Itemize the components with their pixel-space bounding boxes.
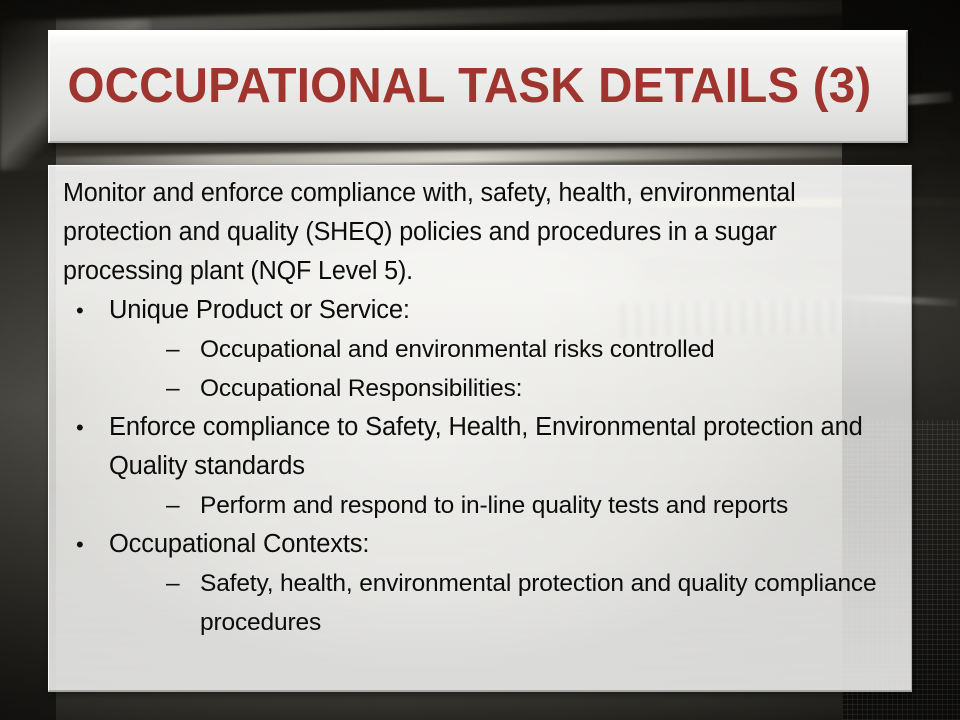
- list-item-label: Safety, health, environmental protection…: [200, 570, 877, 636]
- list-item: • Occupational Contexts: – Safety, healt…: [63, 525, 897, 642]
- bullet-icon: •: [76, 291, 84, 330]
- bullet-icon: •: [76, 408, 84, 447]
- intro-paragraph: Monitor and enforce compliance with, saf…: [63, 174, 884, 291]
- dash-icon: –: [166, 330, 179, 369]
- list-item: – Occupational and environmental risks c…: [109, 330, 897, 369]
- dash-icon: –: [166, 564, 179, 603]
- list-item: – Perform and respond to in-line quality…: [109, 486, 897, 525]
- list-item: – Safety, health, environmental protecti…: [109, 564, 897, 642]
- sub-bullet-list: – Perform and respond to in-line quality…: [109, 486, 897, 525]
- list-item-label: Occupational Contexts:: [109, 530, 369, 558]
- dash-icon: –: [166, 369, 179, 408]
- list-item-label: Perform and respond to in-line quality t…: [200, 492, 788, 519]
- list-item-label: Unique Product or Service:: [109, 296, 410, 324]
- sub-bullet-list: – Occupational and environmental risks c…: [109, 330, 897, 408]
- list-item: – Occupational Responsibilities:: [109, 369, 897, 408]
- sub-bullet-list: – Safety, health, environmental protecti…: [109, 564, 897, 642]
- bullet-list: • Unique Product or Service: – Occupatio…: [63, 291, 897, 642]
- content-panel: Monitor and enforce compliance with, saf…: [48, 165, 912, 692]
- title-box: OCCUPATIONAL TASK DETAILS (3): [48, 30, 908, 143]
- list-item-label: Enforce compliance to Safety, Health, En…: [109, 413, 863, 480]
- list-item: • Enforce compliance to Safety, Health, …: [63, 408, 897, 525]
- slide: OCCUPATIONAL TASK DETAILS (3) Monitor an…: [0, 0, 960, 720]
- page-title: OCCUPATIONAL TASK DETAILS (3): [50, 62, 871, 111]
- list-item-label: Occupational Responsibilities:: [200, 375, 522, 402]
- dash-icon: –: [166, 486, 179, 525]
- bullet-icon: •: [76, 525, 84, 564]
- list-item-label: Occupational and environmental risks con…: [200, 336, 715, 363]
- list-item: • Unique Product or Service: – Occupatio…: [63, 291, 897, 408]
